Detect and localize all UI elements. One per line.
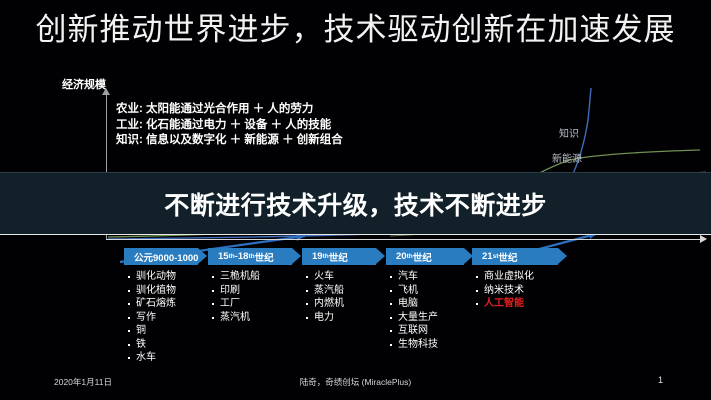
overlay-band-bottom-edge [0, 234, 711, 235]
timeline-item: 汽车 [386, 270, 464, 284]
timeline-column-2[interactable]: 15th-18th 世纪三桅机船印刷工厂蒸汽机 [208, 248, 292, 324]
timeline-era-label-4: 20th 世纪 [386, 248, 464, 265]
footer-page-number: 1 [658, 375, 663, 385]
timeline-item: 飞机 [386, 284, 464, 298]
footer-attribution: 陆奇，奇绩创坛 (MiraclePlus) [0, 376, 711, 388]
timeline-item-list-1: 驯化动物驯化植物矿石熔炼写作铜铁水车 [124, 270, 198, 365]
slide-canvas: 创新推动世界进步，技术驱动创新在加速发展 经济规模 农业: 太阳能通过光合作用 … [0, 0, 711, 400]
timeline-item: 生物科技 [386, 338, 464, 352]
timeline-item: 火车 [302, 270, 376, 284]
timeline: 公元9000-1000驯化动物驯化植物矿石熔炼写作铜铁水车15th-18th 世… [124, 248, 704, 363]
timeline-item: 大量生产 [386, 311, 464, 325]
timeline-item: 蒸汽机 [208, 311, 292, 325]
timeline-item: 三桅机船 [208, 270, 292, 284]
timeline-column-4[interactable]: 20th 世纪汽车飞机电脑大量生产互联网生物科技 [386, 248, 464, 351]
timeline-item: 工厂 [208, 297, 292, 311]
timeline-item: 纳米技术 [472, 284, 558, 298]
timeline-era-label-1: 公元9000-1000 [124, 248, 198, 265]
timeline-item: 人工智能 [472, 297, 558, 311]
timeline-column-5[interactable]: 21st 世纪商业虚拟化纳米技术人工智能 [472, 248, 558, 311]
timeline-era-label-2: 15th-18th 世纪 [208, 248, 292, 265]
timeline-item: 铁 [124, 338, 198, 352]
timeline-item: 蒸汽船 [302, 284, 376, 298]
curve-label-knowledge: 知识 [559, 125, 579, 140]
overlay-band-top-edge [0, 172, 711, 173]
timeline-column-1[interactable]: 公元9000-1000驯化动物驯化植物矿石熔炼写作铜铁水车 [124, 248, 198, 365]
timeline-item: 驯化动物 [124, 270, 198, 284]
x-axis-line [106, 239, 704, 240]
timeline-item: 铜 [124, 324, 198, 338]
timeline-item-list-5: 商业虚拟化纳米技术人工智能 [472, 270, 558, 311]
timeline-era-label-3: 19th 世纪 [302, 248, 376, 265]
timeline-item-list-2: 三桅机船印刷工厂蒸汽机 [208, 270, 292, 324]
timeline-item: 商业虚拟化 [472, 270, 558, 284]
timeline-item-list-4: 汽车飞机电脑大量生产互联网生物科技 [386, 270, 464, 351]
curve-label-new-energy: 新能源 [552, 150, 582, 165]
timeline-item: 矿石熔炼 [124, 297, 198, 311]
timeline-item: 驯化植物 [124, 284, 198, 298]
timeline-item: 电脑 [386, 297, 464, 311]
timeline-item: 互联网 [386, 324, 464, 338]
x-axis-arrow-icon [700, 235, 707, 243]
timeline-item: 内燃机 [302, 297, 376, 311]
timeline-item-list-3: 火车蒸汽船内燃机电力 [302, 270, 376, 324]
subtitle-overlay-text: 不断进行技术升级，技术不断进步 [0, 186, 711, 222]
timeline-item: 印刷 [208, 284, 292, 298]
timeline-item: 水车 [124, 351, 198, 365]
timeline-item: 电力 [302, 311, 376, 325]
timeline-column-3[interactable]: 19th 世纪火车蒸汽船内燃机电力 [302, 248, 376, 324]
timeline-era-label-5: 21st 世纪 [472, 248, 558, 265]
timeline-item: 写作 [124, 311, 198, 325]
